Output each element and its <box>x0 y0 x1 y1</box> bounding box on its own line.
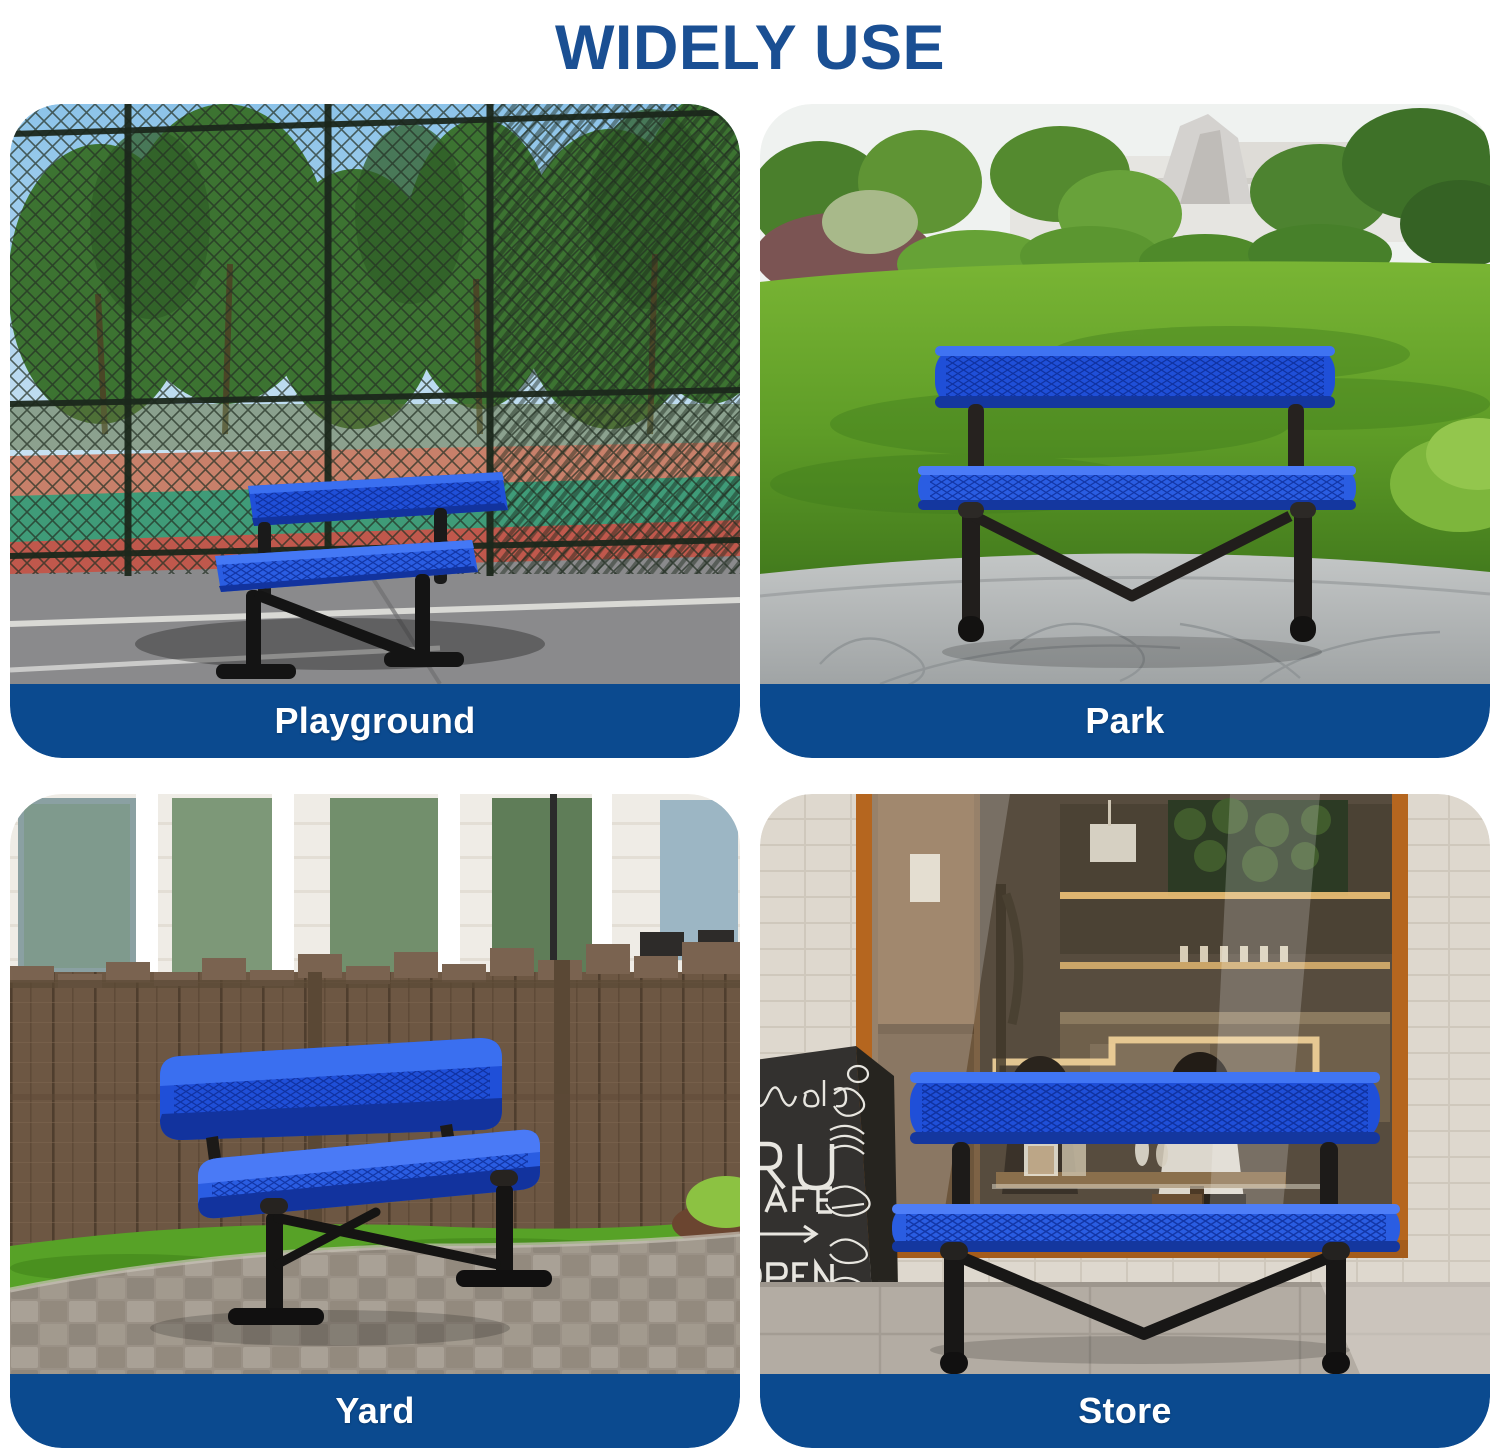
caption-label-yard: Yard <box>335 1393 414 1429</box>
yard-scene-illustration <box>10 794 740 1374</box>
playground-scene-illustration <box>10 104 740 684</box>
page-title-bar: WIDELY USE <box>0 0 1500 96</box>
park-scene-illustration <box>760 104 1490 684</box>
caption-bar-store: Store <box>760 1374 1490 1448</box>
store-photo <box>760 794 1490 1374</box>
store-scene-illustration <box>760 794 1490 1374</box>
caption-bar-playground: Playground <box>10 684 740 758</box>
yard-photo <box>10 794 740 1374</box>
caption-bar-park: Park <box>760 684 1490 758</box>
park-photo <box>760 104 1490 684</box>
caption-label-store: Store <box>1078 1393 1172 1429</box>
widely-use-infographic: WIDELY USE <box>0 0 1500 1456</box>
caption-bar-yard: Yard <box>10 1374 740 1448</box>
use-case-grid: Playground <box>10 104 1490 1448</box>
caption-label-park: Park <box>1085 703 1164 739</box>
use-case-card-store[interactable]: Store <box>760 794 1490 1448</box>
use-case-card-park[interactable]: Park <box>760 104 1490 758</box>
use-case-card-playground[interactable]: Playground <box>10 104 740 758</box>
playground-photo <box>10 104 740 684</box>
caption-label-playground: Playground <box>274 703 475 739</box>
page-title: WIDELY USE <box>555 17 945 80</box>
use-case-card-yard[interactable]: Yard <box>10 794 740 1448</box>
